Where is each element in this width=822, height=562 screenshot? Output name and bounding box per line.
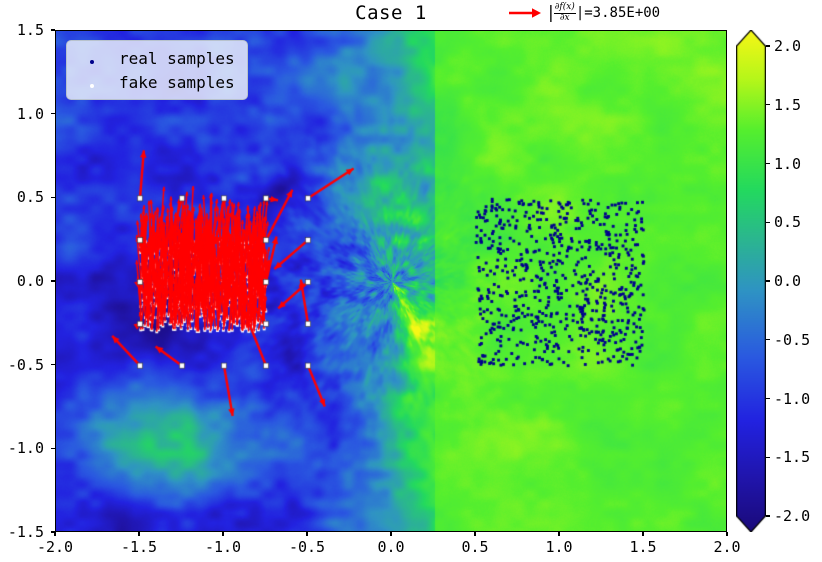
y-tick-label: 0.5 bbox=[17, 188, 44, 206]
x-tick bbox=[54, 532, 55, 536]
colorbar-tick-label: 2.0 bbox=[774, 37, 801, 55]
y-tick-label: 1.5 bbox=[17, 21, 44, 39]
colorbar-tick-label: 1.0 bbox=[774, 155, 801, 173]
colorbar-tick bbox=[766, 280, 770, 281]
x-tick bbox=[474, 532, 475, 536]
colorbar-tick bbox=[766, 222, 770, 223]
quiver-key-numerator: ∂f(x) bbox=[554, 3, 576, 13]
y-tick-label: -0.5 bbox=[8, 356, 44, 374]
y-tick bbox=[51, 364, 55, 365]
x-tick-label: 0.0 bbox=[361, 538, 421, 556]
colorbar-tick-label: 1.5 bbox=[774, 96, 801, 114]
y-tick bbox=[51, 113, 55, 114]
x-tick bbox=[558, 532, 559, 536]
quiver-key-value: |=3.85E+00 bbox=[576, 5, 660, 21]
x-tick bbox=[390, 532, 391, 536]
x-tick-label: 1.5 bbox=[613, 538, 673, 556]
x-tick bbox=[306, 532, 307, 536]
colorbar-tick bbox=[766, 339, 770, 340]
colorbar-tick bbox=[766, 104, 770, 105]
y-tick bbox=[51, 197, 55, 198]
matplotlib-figure: Case 1 |∂f(x)∂x|=3.85E+00 real samples f… bbox=[0, 0, 822, 562]
colorbar-tick-label: 0.0 bbox=[774, 272, 801, 290]
colorbar-tick bbox=[766, 457, 770, 458]
colorbar-tick-label: 0.5 bbox=[774, 213, 801, 231]
colorbar bbox=[736, 30, 766, 532]
x-tick-label: -1.0 bbox=[193, 538, 253, 556]
x-tick-label: 0.5 bbox=[445, 538, 505, 556]
quiver-key-arrow-icon bbox=[508, 6, 542, 20]
x-tick-label: 2.0 bbox=[697, 538, 757, 556]
legend-label-real-samples: real samples bbox=[109, 49, 235, 68]
colorbar-tick bbox=[766, 515, 770, 516]
x-tick-label: -2.0 bbox=[25, 538, 85, 556]
colorbar-tick-label: -1.0 bbox=[774, 390, 810, 408]
legend-label-fake-samples: fake samples bbox=[109, 73, 235, 92]
y-tick bbox=[51, 280, 55, 281]
legend-item-fake-samples: fake samples bbox=[75, 70, 235, 94]
x-tick bbox=[642, 532, 643, 536]
x-tick bbox=[222, 532, 223, 536]
colorbar-tick-label: -2.0 bbox=[774, 507, 810, 525]
x-tick bbox=[726, 532, 727, 536]
y-tick bbox=[51, 29, 55, 30]
legend-marker-real-samples bbox=[75, 49, 109, 68]
colorbar-tick-label: -1.5 bbox=[774, 448, 810, 466]
quiver-key-denominator: ∂x bbox=[554, 14, 576, 23]
quiver-key: |∂f(x)∂x|=3.85E+00 bbox=[508, 1, 660, 25]
legend: real samples fake samples bbox=[66, 40, 248, 100]
colorbar-tick bbox=[766, 163, 770, 164]
y-tick bbox=[51, 448, 55, 449]
x-tick-label: 1.0 bbox=[529, 538, 589, 556]
colorbar-tick bbox=[766, 398, 770, 399]
x-tick bbox=[138, 532, 139, 536]
plot-area bbox=[55, 30, 727, 532]
x-tick-label: -1.5 bbox=[109, 538, 169, 556]
y-tick-label: 0.0 bbox=[17, 272, 44, 290]
y-tick-label: 1.0 bbox=[17, 105, 44, 123]
colorbar-gradient bbox=[736, 30, 766, 532]
legend-item-real-samples: real samples bbox=[75, 46, 235, 70]
quiver-key-fraction: ∂f(x)∂x bbox=[554, 3, 576, 23]
x-tick-label: -0.5 bbox=[277, 538, 337, 556]
scatter-and-quiver-overlay bbox=[56, 31, 727, 532]
y-tick-label: -1.0 bbox=[8, 439, 44, 457]
quiver-key-label: |∂f(x)∂x|=3.85E+00 bbox=[548, 3, 660, 23]
colorbar-tick-label: -0.5 bbox=[774, 331, 810, 349]
legend-marker-fake-samples bbox=[75, 73, 109, 92]
colorbar-tick bbox=[766, 45, 770, 46]
